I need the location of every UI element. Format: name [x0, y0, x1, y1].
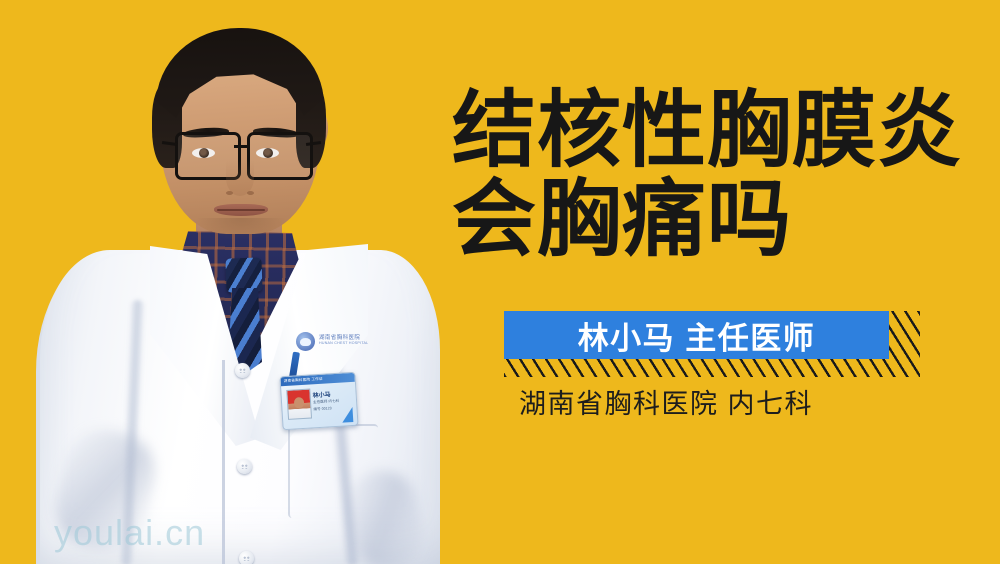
tie-knot: [225, 257, 262, 292]
glasses-bridge: [234, 145, 249, 148]
chin-shadow: [196, 218, 286, 240]
id-badge-line3: 编号 00123: [313, 406, 331, 412]
doctor-name-banner: 林小马 主任医师: [504, 311, 889, 359]
coat-button-3: [239, 551, 254, 564]
site-watermark: youlai.cn: [54, 512, 205, 554]
hospital-logo-en: HUNAN CHEST HOSPITAL: [319, 342, 368, 346]
doctor-portrait: 湖南省胸科医院 HUNAN CHEST HOSPITAL 湖南省胸科医院 工作证…: [0, 0, 470, 564]
doctor-banner: 林小马 主任医师: [504, 311, 920, 377]
affiliation-label: 湖南省胸科医院 内七科: [519, 382, 939, 421]
id-badge-photo: [286, 389, 312, 420]
poster-title-line-2: 会胸痛吗: [452, 175, 972, 264]
doctor-name-label: 林小马 主任医师: [578, 313, 816, 358]
id-badge: 湖南省胸科医院 工作证 林小马 主任医师 内七科 编号 00123: [279, 372, 358, 431]
id-badge-header: 湖南省胸科医院 工作证: [280, 373, 354, 387]
glasses-right-temple: [306, 141, 321, 146]
glasses-right-lens: [247, 132, 313, 180]
hospital-logo-embroidery: 湖南省胸科医院 HUNAN CHEST HOSPITAL: [296, 328, 372, 354]
hospital-logo-text: 湖南省胸科医院 HUNAN CHEST HOSPITAL: [319, 336, 368, 346]
mouth: [214, 204, 268, 216]
coat-placket: [222, 360, 225, 564]
poster-title: 结核性胸膜炎 会胸痛吗: [452, 86, 972, 264]
coat-button-1: [235, 363, 250, 378]
left-nostril: [226, 191, 233, 195]
coat-button-2: [237, 459, 252, 474]
poster-canvas: 湖南省胸科医院 HUNAN CHEST HOSPITAL 湖南省胸科医院 工作证…: [0, 0, 1000, 564]
right-nostril: [247, 191, 254, 195]
id-badge-line2: 主任医师 内七科: [313, 399, 339, 406]
id-badge-corner-mark: [341, 407, 353, 423]
id-badge-name: 林小马: [312, 389, 331, 399]
coat-chest-pocket: [288, 424, 378, 518]
poster-title-line-1: 结核性胸膜炎: [452, 86, 972, 175]
id-badge-header-text: 湖南省胸科医院 工作证: [284, 377, 323, 384]
hospital-logo-mark: [296, 332, 315, 351]
